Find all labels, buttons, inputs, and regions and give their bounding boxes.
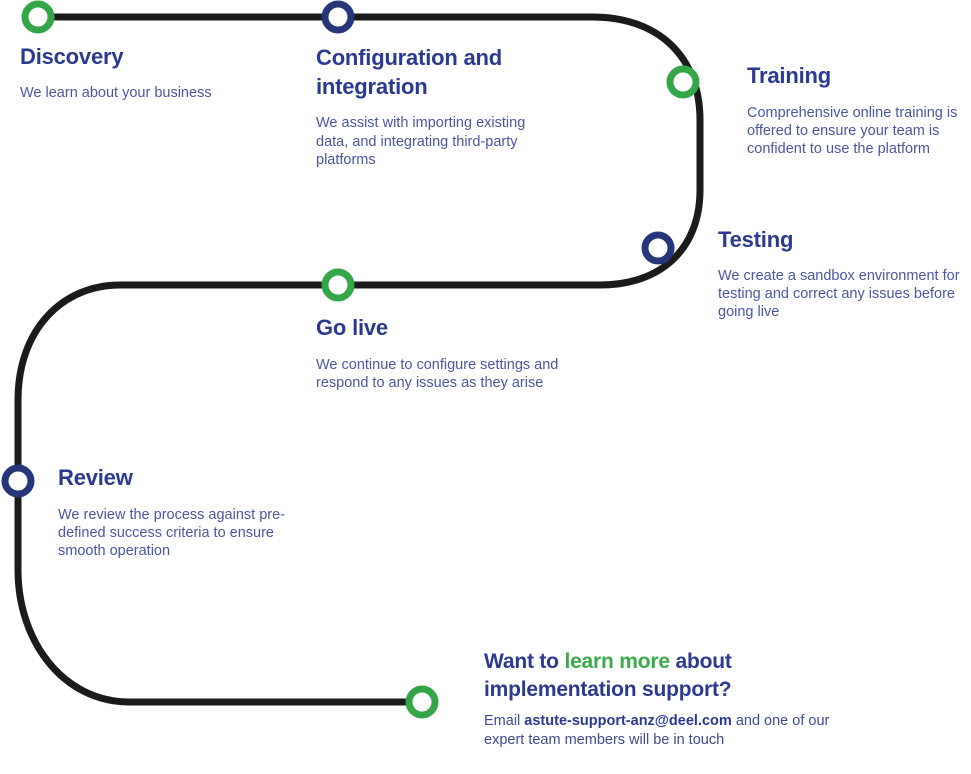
step-testing-body: We create a sandbox environment for test… <box>718 267 968 322</box>
cta-sub-prefix: Email <box>484 713 524 729</box>
step-discovery-title: Discovery <box>20 43 300 72</box>
step-golive: Go live We continue to configure setting… <box>316 314 606 392</box>
step-discovery: Discovery We learn about your business <box>20 43 300 102</box>
cta-heading-accent: learn more <box>564 650 669 673</box>
cta-email-address[interactable]: astute-support-anz@deel.com <box>524 713 732 729</box>
step-configuration-title: Configuration and integration <box>316 44 556 101</box>
step-review-body: We review the process against pre-define… <box>58 506 323 561</box>
cta-heading: Want to learn more about implementation … <box>484 648 834 704</box>
step-golive-title: Go live <box>316 314 606 343</box>
milestone-node-training[interactable] <box>670 69 696 95</box>
step-review-title: Review <box>58 464 323 493</box>
step-testing: Testing We create a sandbox environment … <box>718 226 968 322</box>
step-discovery-body: We learn about your business <box>20 84 300 102</box>
step-training-title: Training <box>747 62 971 91</box>
step-review: Review We review the process against pre… <box>58 464 323 561</box>
step-configuration-body: We assist with importing existing data, … <box>316 114 556 169</box>
milestone-node-discovery[interactable] <box>25 4 51 30</box>
milestone-node-golive[interactable] <box>325 272 351 298</box>
milestone-node-review[interactable] <box>5 468 31 494</box>
step-training-body: Comprehensive online training is offered… <box>747 104 971 159</box>
step-training: Training Comprehensive online training i… <box>747 62 971 159</box>
step-golive-body: We continue to configure settings and re… <box>316 356 606 393</box>
cta-heading-part1: Want to <box>484 650 564 673</box>
milestone-node-configuration[interactable] <box>325 4 351 30</box>
milestone-node-testing[interactable] <box>645 235 671 261</box>
step-testing-title: Testing <box>718 226 968 255</box>
step-configuration: Configuration and integration We assist … <box>316 44 556 169</box>
milestone-node-endpoint[interactable] <box>409 689 435 715</box>
cta-block: Want to learn more about implementation … <box>484 648 834 751</box>
cta-subtext: Email astute-support-anz@deel.com and on… <box>484 712 834 751</box>
